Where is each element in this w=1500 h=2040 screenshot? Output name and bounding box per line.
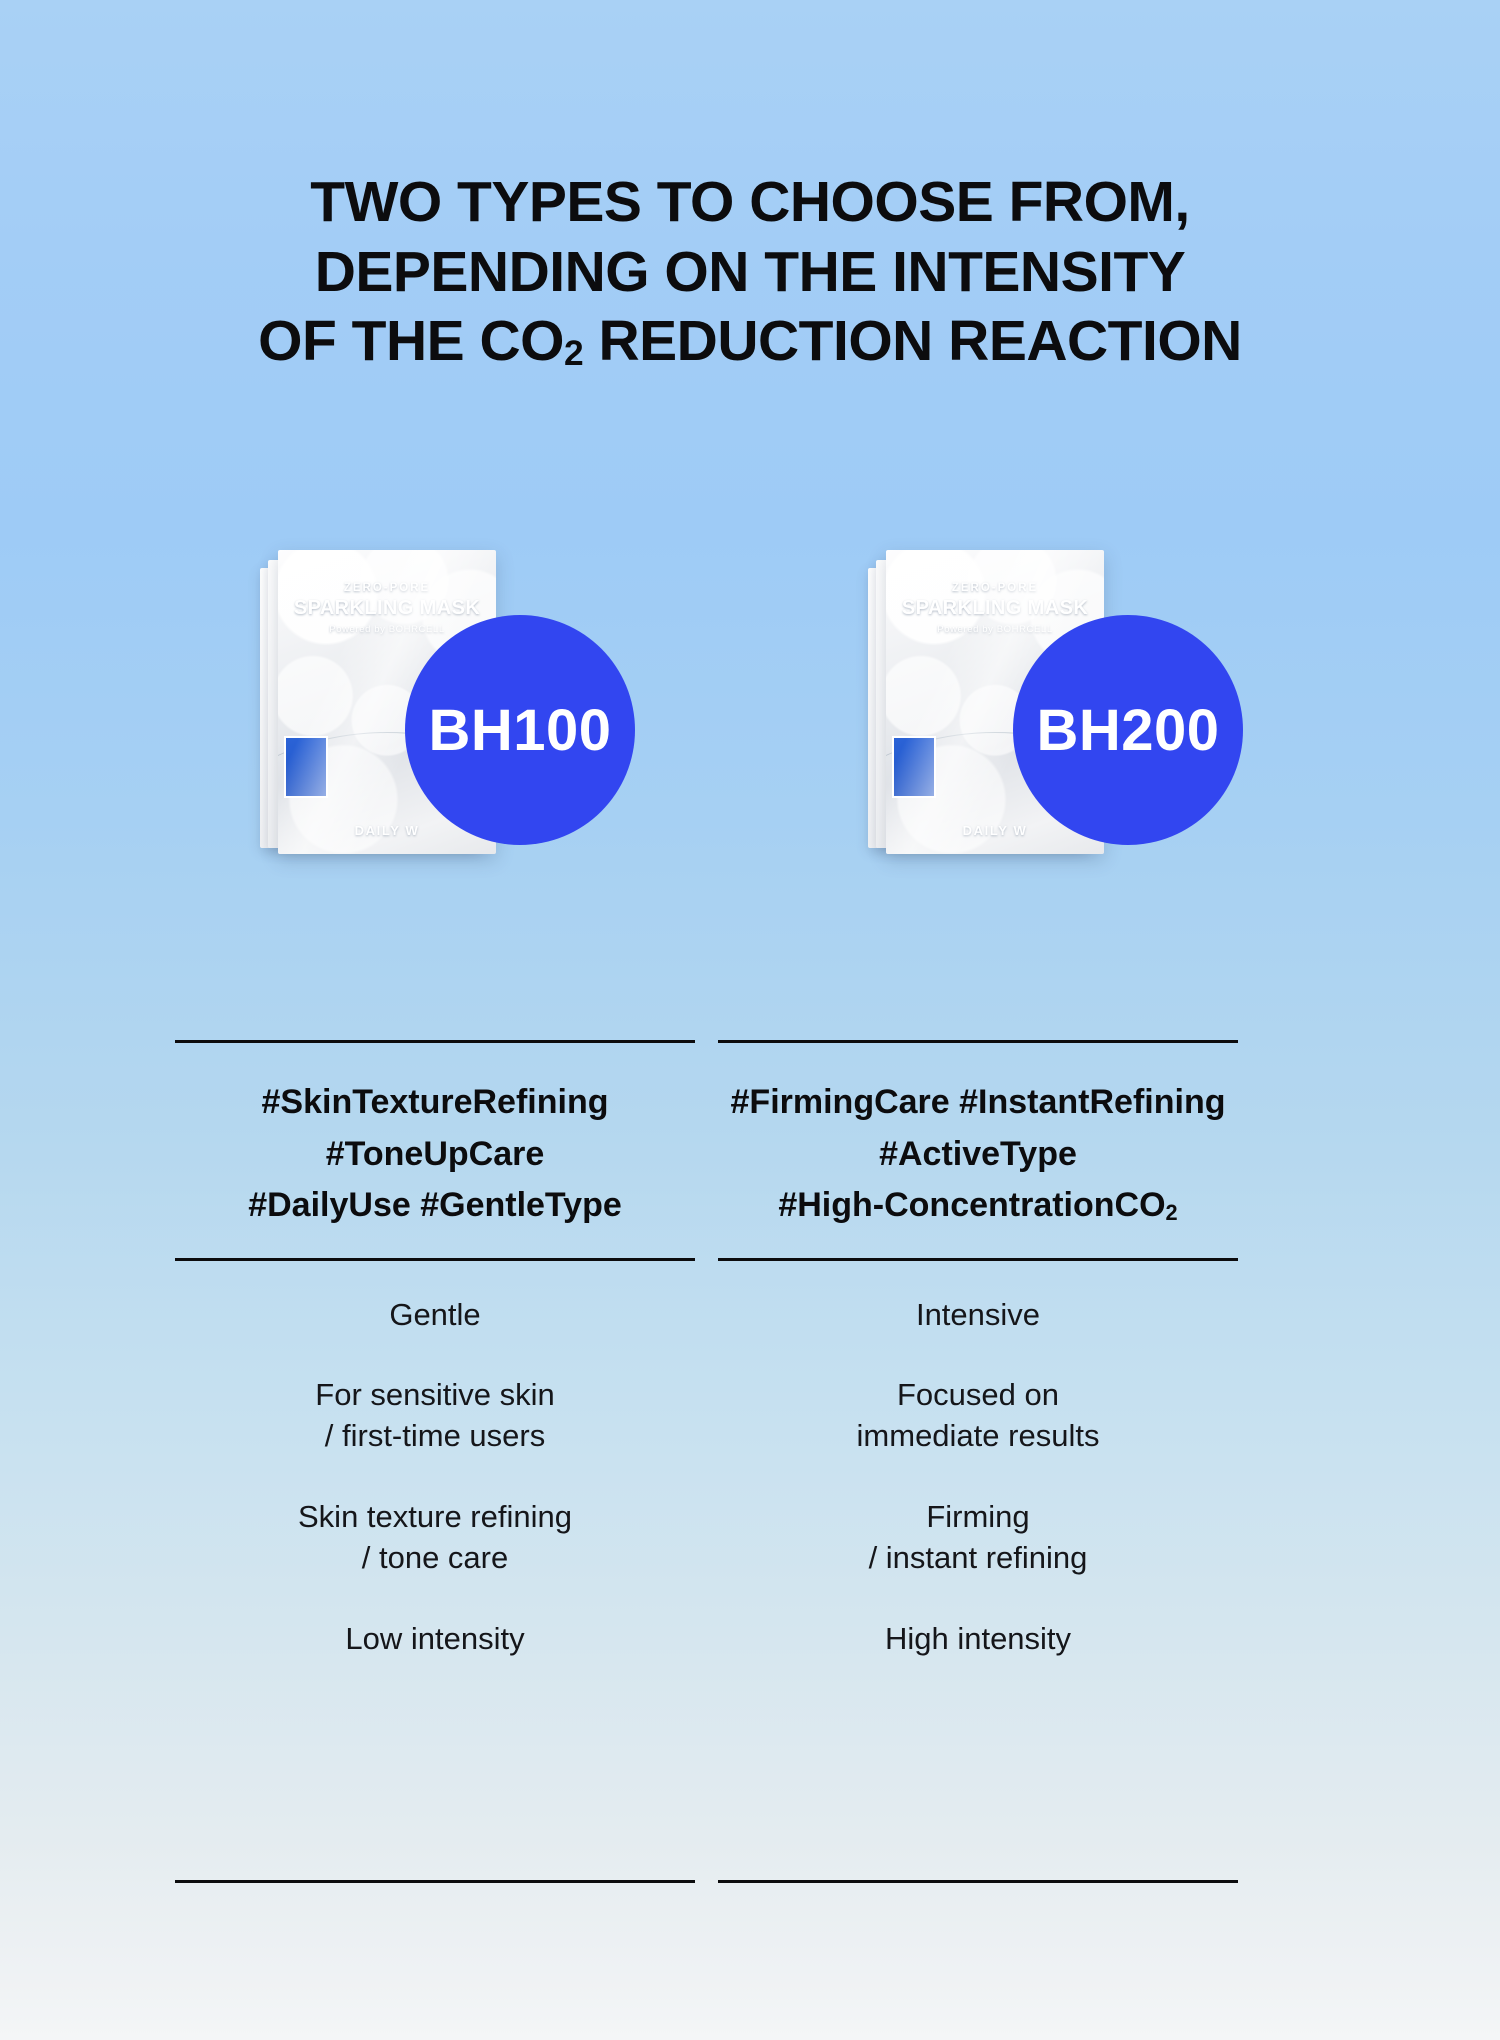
tags-line-3: #High-ConcentrationCO2: [718, 1180, 1238, 1232]
package-text-block: ZERO-PORE SPARKLING MASK Powered by BOHR…: [886, 582, 1104, 635]
feature-item: For sensitive skin/ first-time users: [175, 1375, 695, 1457]
tags-line-1: #SkinTextureRefining: [175, 1077, 695, 1129]
feature-item: Firming/ instant refining: [718, 1497, 1238, 1579]
package-eyebrow: ZERO-PORE: [278, 582, 496, 594]
feature-item: Skin texture refining/ tone care: [175, 1497, 695, 1579]
tags-co2-subscript: 2: [1166, 1200, 1178, 1225]
package-eyebrow: ZERO-PORE: [886, 582, 1104, 594]
infographic-page: TWO TYPES TO CHOOSE FROM, DEPENDING ON T…: [0, 0, 1500, 2040]
product-bh200: ZERO-PORE SPARKLING MASK Powered by BOHR…: [808, 540, 1228, 900]
column-bh100: #SkinTextureRefining #ToneUpCare #DailyU…: [175, 1040, 695, 1660]
package-left-chip: [892, 736, 936, 798]
title-line-3: OF THE CO2 REDUCTION REACTION: [0, 307, 1500, 377]
product-bh100: ZERO-PORE SPARKLING MASK Powered by BOHR…: [200, 540, 620, 900]
feature-item: Gentle: [175, 1295, 695, 1336]
package-left-chip: [284, 736, 328, 798]
title-line-3-before: OF THE CO: [258, 309, 564, 373]
title-line-1: TWO TYPES TO CHOOSE FROM,: [0, 168, 1500, 238]
title-line-3-after: REDUCTION REACTION: [583, 309, 1242, 373]
feature-item: Low intensity: [175, 1619, 695, 1660]
feature-item: Focused onimmediate results: [718, 1375, 1238, 1457]
features-bh200: Intensive Focused onimmediate results Fi…: [718, 1261, 1238, 1660]
product-images-row: ZERO-PORE SPARKLING MASK Powered by BOHR…: [0, 540, 1500, 920]
tags-line-3: #DailyUse #GentleType: [175, 1180, 695, 1232]
tags-line-2: #ToneUpCare: [175, 1129, 695, 1181]
tags-line-3-text: #High-ConcentrationCO: [778, 1186, 1165, 1224]
tags-bh100: #SkinTextureRefining #ToneUpCare #DailyU…: [175, 1043, 695, 1258]
feature-item: Intensive: [718, 1295, 1238, 1336]
title-line-2: DEPENDING ON THE INTENSITY: [0, 238, 1500, 308]
package-product-name: SPARKLING MASK: [278, 597, 496, 620]
features-bh100: Gentle For sensitive skin/ first-time us…: [175, 1261, 695, 1660]
page-title: TWO TYPES TO CHOOSE FROM, DEPENDING ON T…: [0, 168, 1500, 377]
divider-bottom-right: [718, 1880, 1238, 1883]
title-co2-subscript: 2: [564, 334, 583, 373]
column-bh200: #FirmingCare #InstantRefining #ActiveTyp…: [718, 1040, 1238, 1660]
divider-bottom-left: [175, 1880, 695, 1883]
badge-bh100: BH100: [405, 615, 635, 845]
badge-bh200: BH200: [1013, 615, 1243, 845]
tags-line-2: #ActiveType: [718, 1129, 1238, 1181]
package-text-block: ZERO-PORE SPARKLING MASK Powered by BOHR…: [278, 582, 496, 635]
tags-bh200: #FirmingCare #InstantRefining #ActiveTyp…: [718, 1043, 1238, 1258]
package-product-name: SPARKLING MASK: [886, 597, 1104, 620]
tags-line-1: #FirmingCare #InstantRefining: [718, 1077, 1238, 1129]
feature-item: High intensity: [718, 1619, 1238, 1660]
